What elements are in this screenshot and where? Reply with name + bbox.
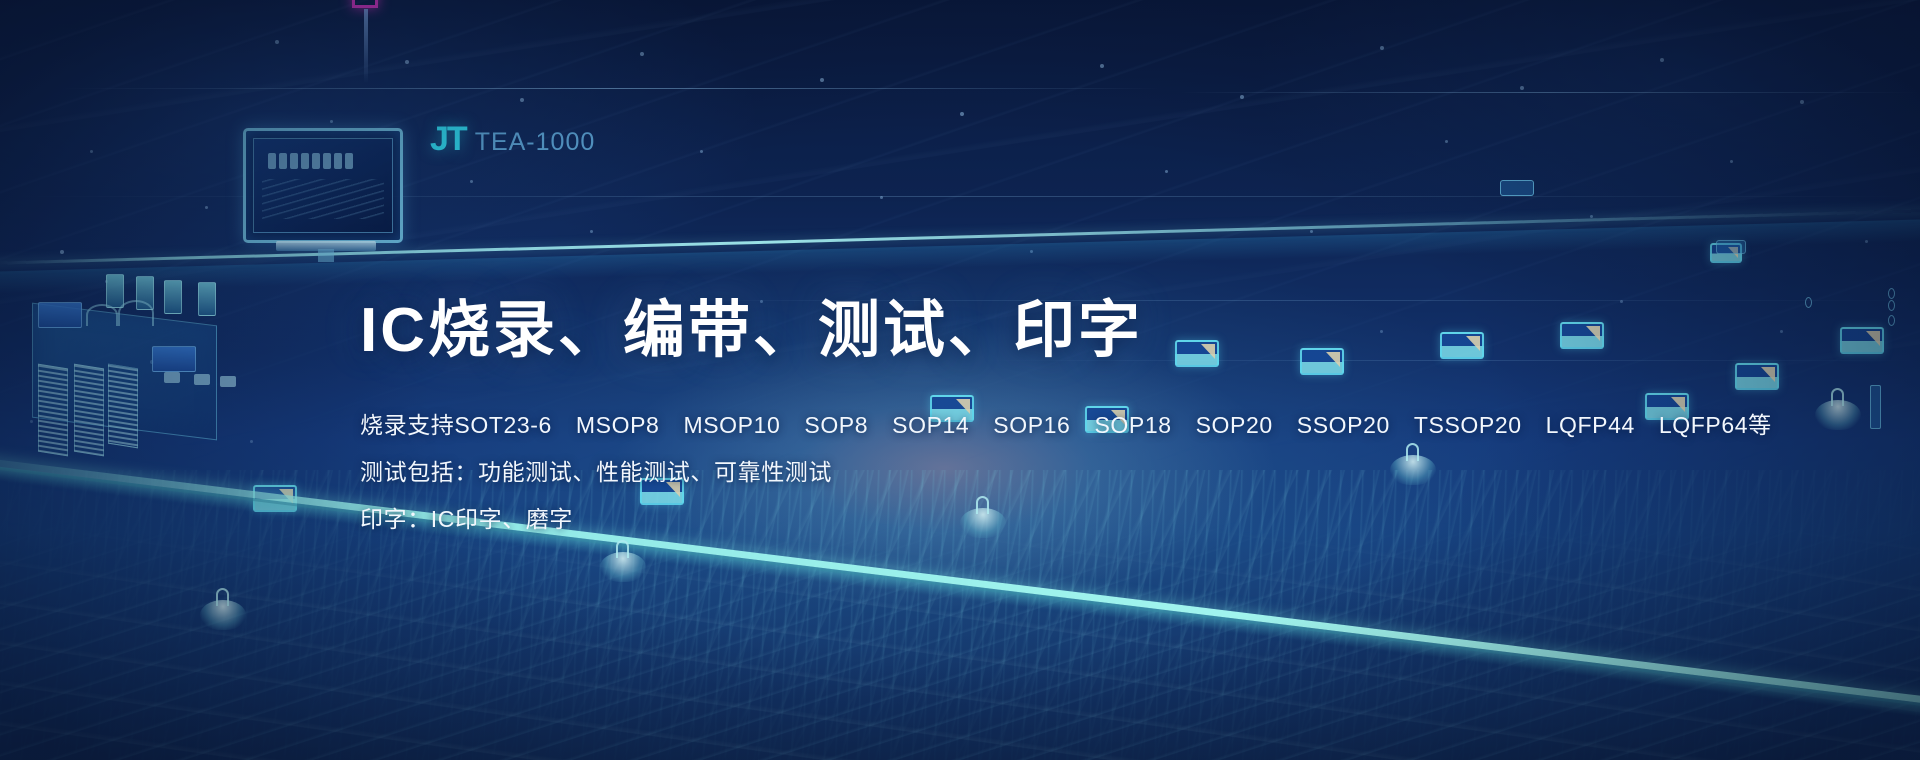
package-item: SOP14 <box>892 414 969 437</box>
banner-copy: IC烧录、编带、测试、印字 烧录支持SOT23-6 MSOP8 MSOP10 S… <box>360 300 1620 531</box>
conveyor-leg-icon <box>1815 400 1861 430</box>
packages-line: 烧录支持SOT23-6 MSOP8 MSOP10 SOP8 SOP14 SOP1… <box>360 414 1620 437</box>
hero-banner: JT TEA-1000 <box>0 0 1920 760</box>
package-item: MSOP8 <box>576 414 660 437</box>
circuit-floor-texture-lower <box>0 520 1920 760</box>
chip-icon <box>1735 363 1779 390</box>
packages-lead: 烧录支持SOT23-6 <box>360 414 552 437</box>
package-item: SOP16 <box>993 414 1070 437</box>
chip-icon <box>1840 327 1884 354</box>
package-item: MSOP10 <box>683 414 780 437</box>
testing-line: 测试包括：功能测试、性能测试、可靠性测试 <box>360 461 1620 484</box>
package-item: LQFP44 <box>1546 414 1635 437</box>
sensor-marker-icon <box>1888 300 1895 311</box>
conveyor-leg-icon <box>200 600 246 630</box>
indicator-bar-icon <box>1500 180 1534 196</box>
industrial-machine-icon <box>8 270 238 475</box>
logo-model: TEA-1000 <box>475 128 596 157</box>
sensor-marker-icon <box>1888 288 1895 299</box>
package-item: TSSOP20 <box>1414 414 1522 437</box>
logo-mark: JT <box>430 120 466 159</box>
sensor-marker-icon <box>1888 315 1895 326</box>
page-title: IC烧录、编带、测试、印字 <box>360 300 1620 362</box>
package-item: SSOP20 <box>1297 414 1390 437</box>
monitor-icon <box>243 128 403 243</box>
equipment-logo: JT TEA-1000 <box>430 120 595 159</box>
indicator-bar-icon <box>1870 385 1881 429</box>
package-item: LQFP64等 <box>1659 414 1772 437</box>
package-item: SOP20 <box>1196 414 1273 437</box>
ceiling-fixture-icon <box>352 0 378 8</box>
packages-list: 烧录支持SOT23-6 MSOP8 MSOP10 SOP8 SOP14 SOP1… <box>360 414 1772 437</box>
package-item: SOP18 <box>1094 414 1171 437</box>
conveyor-leg-icon <box>600 552 646 582</box>
horizon-line <box>1180 92 1920 93</box>
horizon-line <box>60 88 1160 89</box>
sensor-marker-icon <box>1805 297 1812 308</box>
package-item: SOP8 <box>804 414 868 437</box>
indicator-bar-icon <box>1716 240 1746 254</box>
marking-line: 印字：IC印字、磨字 <box>360 508 1620 531</box>
